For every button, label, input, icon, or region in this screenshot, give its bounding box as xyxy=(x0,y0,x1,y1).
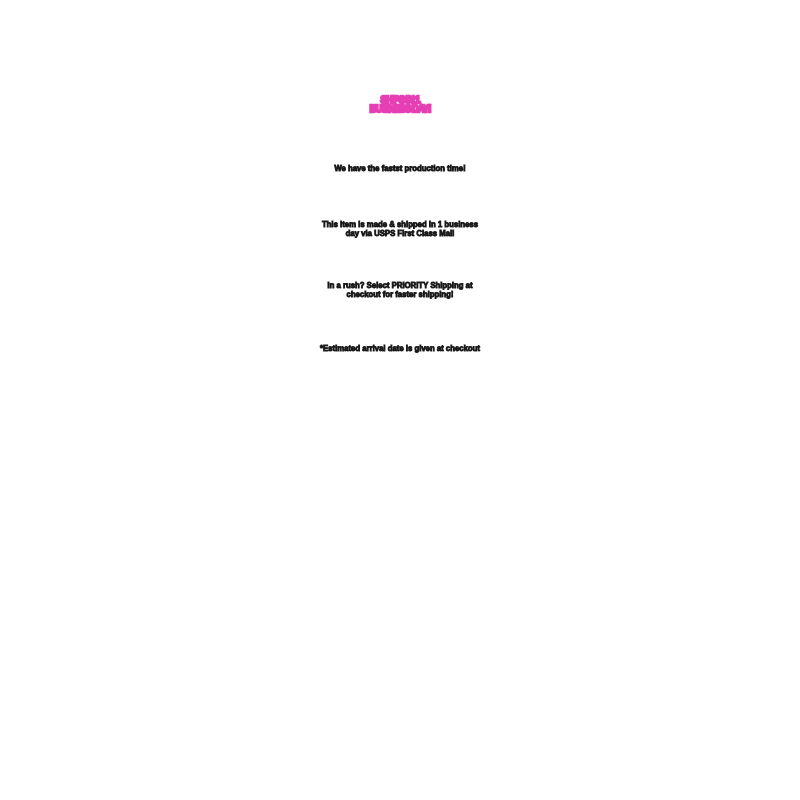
paragraph-priority-upgrade: In a rush? Select PRIORITY Shipping at c… xyxy=(41,281,759,300)
shipping-notice-poster: SHIPS IN 1 BUSINESS DAY! We have the fas… xyxy=(0,0,800,800)
paragraph-shipping-method-line-2: day via USPS First Class Mail xyxy=(41,229,759,238)
paragraph-arrival-estimate: *Estimated arrival date is given at chec… xyxy=(41,344,759,353)
paragraph-shipping-method-line-1: This item is made & shipped in 1 busines… xyxy=(41,220,759,229)
paragraph-arrival-estimate-line-1: *Estimated arrival date is given at chec… xyxy=(41,344,759,353)
paragraph-priority-upgrade-line-2: checkout for faster shipping! xyxy=(41,290,759,299)
body-text-stack: We have the fastst production time! This… xyxy=(0,164,800,353)
page-title: SHIPS IN 1 BUSINESS DAY! xyxy=(24,96,776,114)
paragraph-shipping-method: This item is made & shipped in 1 busines… xyxy=(41,220,759,239)
headline-line-2: BUSINESS DAY! xyxy=(24,105,776,114)
paragraph-priority-upgrade-line-1: In a rush? Select PRIORITY Shipping at xyxy=(41,281,759,290)
paragraph-production-time-line-1: We have the fastst production time! xyxy=(41,164,759,173)
paragraph-production-time: We have the fastst production time! xyxy=(41,164,759,173)
